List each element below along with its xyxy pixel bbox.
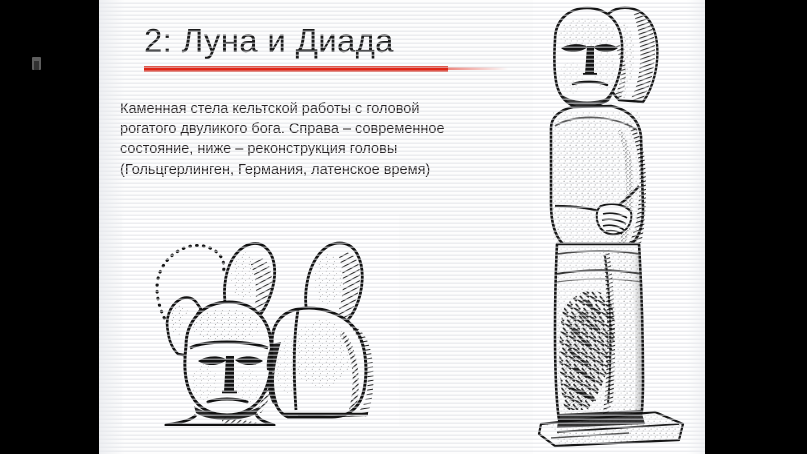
statue-torso (551, 106, 646, 244)
presentation-slide: 2: Луна и Диада Каменная стела кельтской… (99, 0, 705, 454)
statue-drawing (533, 0, 701, 454)
letterbox-left (0, 0, 99, 454)
statue-plinth (539, 410, 683, 446)
title-block: 2: Луна и Диада (144, 21, 394, 61)
body-text: Каменная стела кельтской работы с голово… (120, 99, 550, 180)
figure-statue-current-state: Чёрно-белый рисунок каменной стелы из Го… (533, 0, 701, 454)
title-underline-rule (144, 66, 448, 72)
statue-shaft (555, 244, 643, 420)
letterbox-right (705, 0, 807, 454)
body-line-1: Каменная стела кельтской работы с голово… (120, 99, 550, 119)
reconstruction-heads-drawing (122, 214, 399, 426)
page-title: 2: Луна и Диада (144, 21, 394, 61)
body-line-2: рогатого двуликого бога. Справа – соврем… (120, 119, 550, 139)
body-line-3: состояние, ниже – реконструкция головы (120, 139, 550, 159)
title-underline-fade (448, 67, 508, 70)
figure-reconstruction-heads: Чёрно-белый рисунок: два ракурса реконст… (122, 214, 399, 426)
player-watermark-icon (32, 57, 41, 70)
body-line-4: (Гольцгерлинген, Германия, латенское вре… (120, 160, 550, 180)
statue-hand (597, 204, 632, 234)
video-frame: 2: Луна и Диада Каменная стела кельтской… (0, 0, 807, 454)
